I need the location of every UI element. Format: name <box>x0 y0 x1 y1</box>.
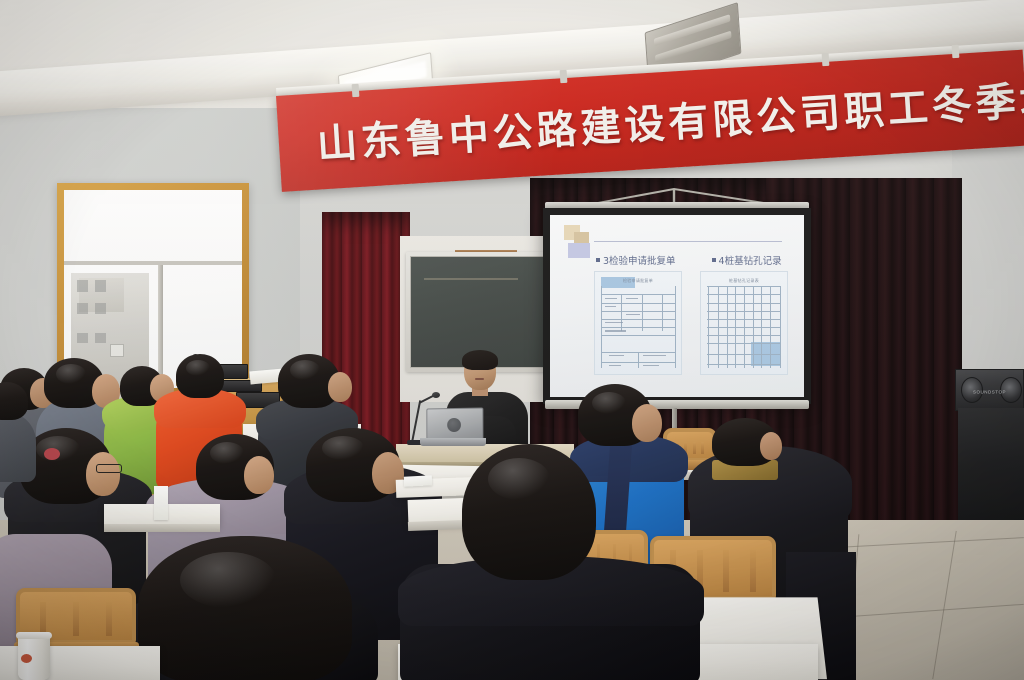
papers-on-table <box>404 475 432 486</box>
paper-cup <box>18 632 50 680</box>
projection-screen-surface: 3检验申请批复单 4桩基钻孔记录 检验申请批复单 <box>550 215 804 397</box>
loudspeaker-top: SOUNDSTOP <box>955 369 1024 411</box>
exterior-air-conditioner <box>110 344 124 357</box>
slide-document-images: 检验申请批复单 <box>594 271 788 375</box>
laptop-logo <box>447 418 461 432</box>
hair-tie <box>44 448 60 460</box>
cup-rim <box>16 632 52 639</box>
table-edge <box>104 524 220 532</box>
speaker-brand-label: SOUNDSTOP <box>973 389 1006 394</box>
laptop-keyboard-base <box>420 438 486 446</box>
slide-document-left: 检验申请批复单 <box>594 271 682 375</box>
loudspeaker-body <box>958 408 1024 530</box>
slide-heading-2: 4桩基钻孔记录 <box>712 253 782 267</box>
papers-on-table <box>154 486 168 520</box>
microphone-icon <box>432 392 440 398</box>
window-top-pane <box>64 190 242 265</box>
presentation-slide: 3检验申请批复单 4桩基钻孔记录 检验申请批复单 <box>550 215 804 397</box>
doc-right-title: 桩基钻孔记录表 <box>701 278 787 284</box>
banner-clip <box>822 53 830 66</box>
slide-decoration <box>564 225 598 255</box>
cup-logo <box>21 654 32 663</box>
laptop-screen <box>426 407 483 440</box>
presenter-mouth <box>475 378 484 380</box>
slide-divider <box>594 241 782 242</box>
slide-heading-1-label: 3检验申请批复单 <box>603 253 676 267</box>
slide-headings: 3检验申请批复单 4桩基钻孔记录 <box>596 253 790 267</box>
banner-clip <box>560 70 568 83</box>
bullet-square-icon <box>596 258 600 262</box>
presenter-hair <box>462 350 498 370</box>
photo-scene: 山东鲁中公路建设有限公司职工冬季培训会 3检验申请批复单 <box>0 0 1024 680</box>
banner-clip <box>952 45 960 58</box>
doc-left-title: 检验申请批复单 <box>595 278 681 284</box>
slide-document-right: 桩基钻孔记录表 <box>700 271 788 375</box>
slide-heading-1: 3检验申请批复单 <box>596 253 676 267</box>
slide-heading-2-label: 4桩基钻孔记录 <box>719 253 782 267</box>
bullet-square-icon <box>712 258 716 262</box>
projection-screen: 3检验申请批复单 4桩基钻孔记录 检验申请批复单 <box>543 208 811 404</box>
eyeglasses-icon <box>96 464 122 473</box>
banner-clip <box>352 84 360 97</box>
window-mullion <box>158 265 163 388</box>
